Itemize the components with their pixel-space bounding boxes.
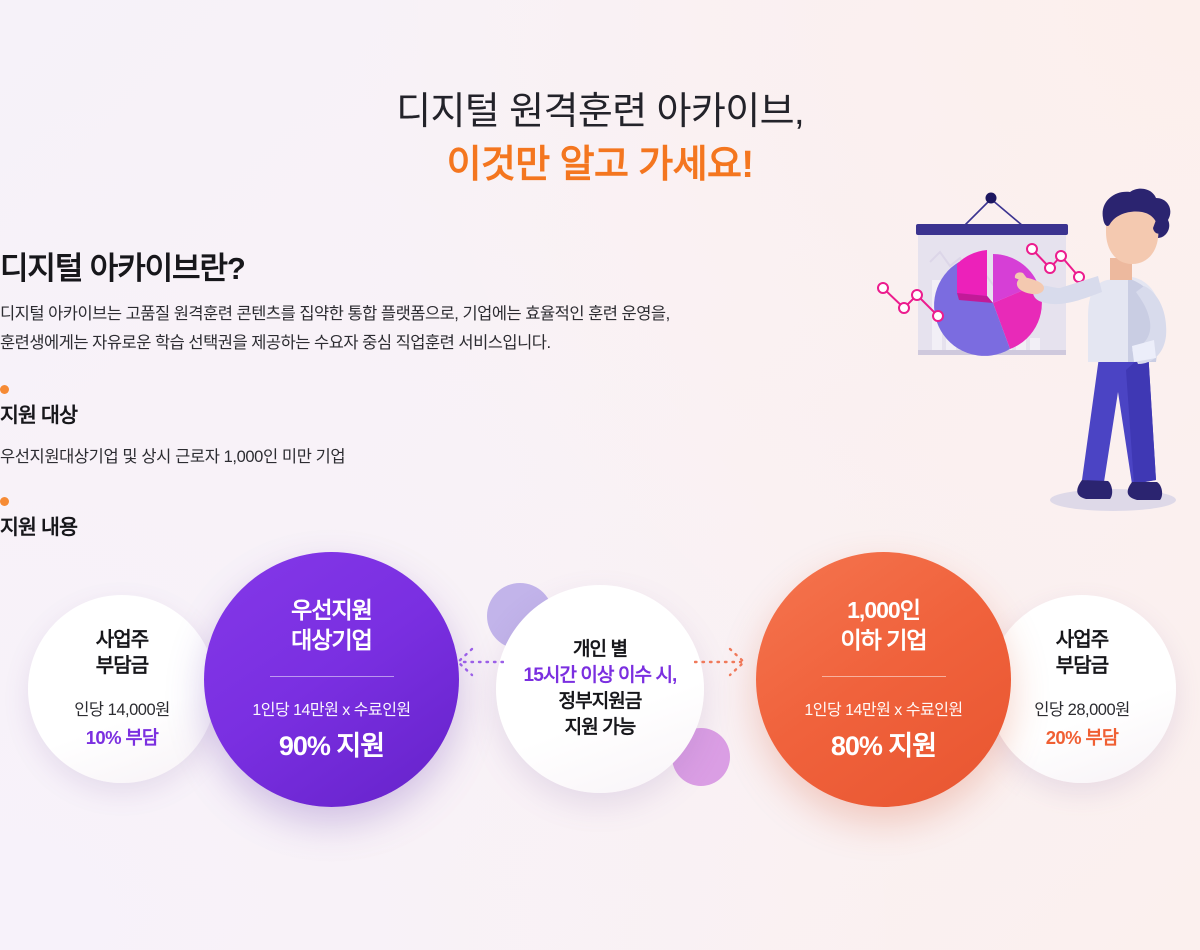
node-amount: 인당 28,000원 [1034, 696, 1130, 720]
board-top-bar [916, 224, 1068, 235]
node-priority-support-company: 우선지원 대상기업 1인당 14만원 x 수료인원 90% 지원 [204, 552, 459, 807]
figure-shadow [1050, 489, 1176, 511]
bullet-dot-icon [0, 497, 9, 506]
section-description: 디지털 아카이브는 고품질 원격훈련 콘텐츠를 집약한 통합 플랫폼으로, 기업… [0, 300, 815, 359]
section-description-line-1: 디지털 아카이브는 고품질 원격훈련 콘텐츠를 집약한 통합 플랫폼으로, 기업… [0, 300, 815, 329]
node-title-line-2: 대상기업 [291, 627, 372, 653]
node-divider [270, 676, 394, 677]
chart-board [918, 234, 1066, 354]
board-bottom-bar [918, 350, 1066, 355]
node-amount: 인당 14,000원 [74, 696, 170, 720]
connector-right-arrow [694, 645, 750, 684]
line-chart-marker-right [1027, 244, 1084, 282]
node-individual-condition: 개인 별 15시간 이상 이수 시, 정부지원금 지원 가능 [496, 585, 704, 793]
node-amount: 1인당 14만원 x 수료인원 [804, 696, 962, 720]
board-hanger-knob-icon [986, 193, 997, 204]
node-title-line-1: 사업주 [1056, 629, 1109, 651]
line-chart-marker-left [878, 283, 943, 321]
node-line-2: 15시간 이상 이수 시, [524, 663, 677, 689]
node-title: 우선지원 대상기업 [291, 596, 372, 656]
page-title-line-2: 이것만 알고 가세요! [0, 141, 1200, 190]
node-title-line-1: 우선지원 [291, 597, 372, 623]
node-title: 1,000인 이하 기업 [840, 596, 926, 656]
node-line-1: 개인 별 [573, 637, 627, 663]
section-description-line-2: 훈련생에게는 자유로운 학습 선택권을 제공하는 수요자 중심 직업훈련 서비스… [0, 329, 815, 358]
bullet-title: 지원 대상 [0, 404, 345, 429]
businessman-presenting-chart-illustration [860, 180, 1200, 520]
node-employer-burden-left: 사업주 부담금 인당 14,000원 10% 부담 [28, 595, 216, 783]
page-title: 디지털 원격훈련 아카이브, 이것만 알고 가세요! [0, 88, 1200, 189]
node-title-line-2: 이하 기업 [840, 627, 926, 653]
node-line-3: 정부지원금 [559, 689, 642, 715]
node-amount: 1인당 14만원 x 수료인원 [252, 696, 410, 720]
node-title-line-2: 부담금 [96, 655, 149, 677]
node-title-line-2: 부담금 [1056, 655, 1109, 677]
node-title: 사업주 부담금 [1056, 628, 1109, 679]
node-employer-burden-right: 사업주 부담금 인당 28,000원 20% 부담 [988, 595, 1176, 783]
node-title-line-1: 사업주 [96, 629, 149, 651]
node-title-line-1: 1,000인 [847, 597, 920, 623]
node-rate: 10% 부담 [86, 724, 159, 750]
node-rate: 20% 부담 [1046, 724, 1119, 750]
bullet-support-target: 지원 대상 우선지원대상기업 및 상시 근로자 1,000인 미만 기업 [0, 385, 345, 467]
board-background-bars [932, 272, 1040, 350]
node-divider [822, 676, 946, 677]
section-heading: 디지털 아카이브란? [0, 243, 245, 288]
bullet-text: 우선지원대상기업 및 상시 근로자 1,000인 미만 기업 [0, 443, 345, 467]
connector-left-arrow [452, 645, 504, 684]
node-under-1000-company: 1,000인 이하 기업 1인당 14만원 x 수료인원 80% 지원 [756, 552, 1011, 807]
bullet-support-content: 지원 내용 [0, 497, 77, 541]
node-rate: 80% 지원 [831, 724, 936, 763]
presenter-figure [1015, 189, 1171, 500]
pie-chart [934, 250, 1042, 356]
node-title: 사업주 부담금 [96, 628, 149, 679]
node-rate: 90% 지원 [279, 724, 384, 763]
bullet-title: 지원 내용 [0, 516, 77, 541]
page-title-line-1: 디지털 원격훈련 아카이브, [0, 88, 1200, 137]
node-line-4: 지원 가능 [565, 715, 636, 741]
bullet-dot-icon [0, 385, 9, 394]
board-background-line [930, 252, 1042, 310]
